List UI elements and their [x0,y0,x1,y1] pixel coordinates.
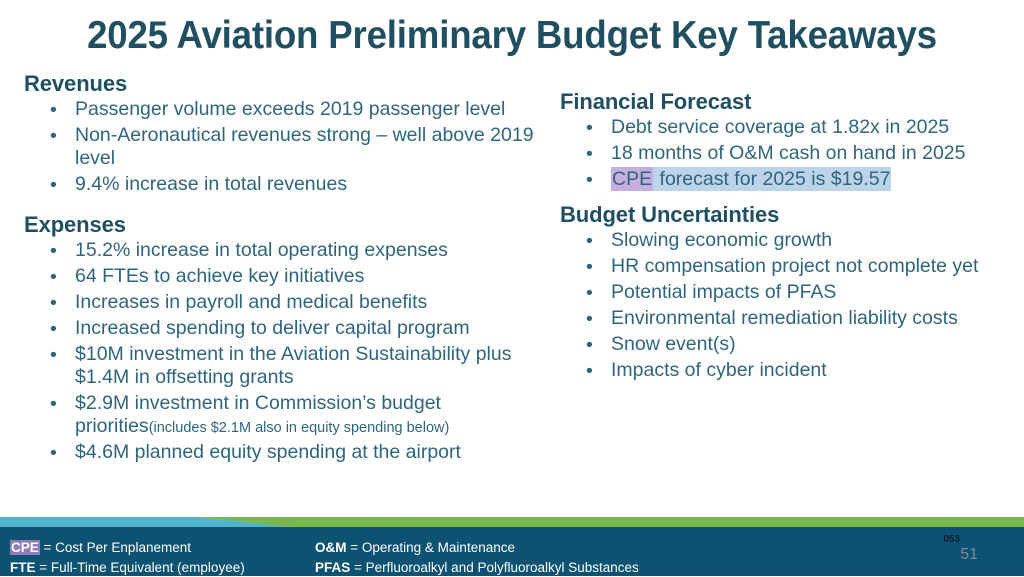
legend-definition-pfas: = Perfluoroalkyl and Polyfluoroalkyl Sub… [350,560,639,575]
list-item-text: Increased spending to deliver capital pr… [75,317,470,339]
list-item-text: Increases in payroll and medical benefit… [75,291,427,313]
section-heading-revenues: Revenues [24,72,536,95]
footer-legend-left: CPE = Cost Per Enplanement FTE = Full-Ti… [10,538,245,577]
list-item-text: $4.6M planned equity spending at the air… [75,441,461,463]
expenses-bullet-list: • 15.2% increase in total operating expe… [24,239,536,464]
list-item: • 18 months of O&M cash on hand in 2025 [560,142,1020,165]
list-item-text: 64 FTEs to achieve key initiatives [75,265,364,287]
bullet-dot-icon: • [586,143,593,166]
list-item-text: Non-Aeronautical revenues strong – well … [75,124,534,169]
list-item: • Impacts of cyber incident [560,359,1020,382]
list-item: • Slowing economic growth [560,229,1020,252]
list-item: • 15.2% increase in total operating expe… [24,239,536,262]
bullet-dot-icon: • [586,117,593,140]
bullet-dot-icon: • [50,99,57,122]
budget-uncertainties-bullet-list: • Slowing economic growth • HR compensat… [560,229,1020,382]
list-item: • Potential impacts of PFAS [560,281,1020,304]
section-heading-budget-uncertainties: Budget Uncertainties [560,203,1020,226]
list-item: • $10M investment in the Aviation Sustai… [24,343,536,389]
left-column: Revenues • Passenger volume exceeds 2019… [24,72,536,467]
list-item: • $2.9M investment in Commission’s budge… [24,392,536,438]
list-item-text: 9.4% increase in total revenues [75,173,347,195]
list-item: • 9.4% increase in total revenues [24,173,536,196]
bullet-dot-icon: • [586,360,593,383]
right-column: Financial Forecast • Debt service covera… [560,90,1020,385]
legend-row-cpe: CPE = Cost Per Enplanement [10,538,245,558]
list-item: • Debt service coverage at 1.82x in 2025 [560,116,1020,139]
legend-abbr-cpe: CPE [10,540,40,555]
bullet-dot-icon: • [50,240,57,263]
list-item-text: HR compensation project not complete yet [611,255,978,277]
page-number: 51 [960,546,978,564]
legend-abbr-fte: FTE [10,560,36,575]
list-item: • Passenger volume exceeds 2019 passenge… [24,98,536,121]
list-item: • Increased spending to deliver capital … [24,317,536,340]
section-heading-financial-forecast: Financial Forecast [560,90,1020,113]
bullet-dot-icon: • [586,282,593,305]
legend-row-pfas: PFAS = Perfluoroalkyl and Polyfluoroalky… [315,558,639,577]
page-code: 053 [943,534,960,545]
bullet-dot-icon: • [586,169,593,192]
bullet-dot-icon: • [50,344,57,367]
legend-row-fte: FTE = Full-Time Equivalent (employee) [10,558,245,577]
list-item-text: 18 months of O&M cash on hand in 2025 [611,142,965,164]
list-item-text: 15.2% increase in total operating expens… [75,239,448,261]
list-item-text: Debt service coverage at 1.82x in 2025 [611,116,949,138]
list-item: • Increases in payroll and medical benef… [24,291,536,314]
list-item: • $4.6M planned equity spending at the a… [24,441,536,464]
list-item-text: Impacts of cyber incident [611,359,827,381]
list-item-highlighted: •CPE forecast for 2025 is $19.57 [560,168,1020,191]
bullet-dot-icon: • [50,125,57,148]
legend-abbr-pfas: PFAS [315,560,350,575]
list-item: • Environmental remediation liability co… [560,307,1020,330]
bullet-dot-icon: • [586,230,593,253]
list-item-text: Snow event(s) [611,333,736,355]
list-item-note: (includes $2.1M also in equity spending … [149,420,450,436]
list-item: • Snow event(s) [560,333,1020,356]
list-item: • HR compensation project not complete y… [560,255,1020,278]
bullet-dot-icon: • [586,308,593,331]
legend-row-om: O&M = Operating & Maintenance [315,538,639,558]
list-item-text: $10M investment in the Aviation Sustaina… [75,343,511,388]
section-heading-expenses: Expenses [24,213,536,236]
financial-forecast-bullet-list: • Debt service coverage at 1.82x in 2025… [560,116,1020,191]
list-item-text: Potential impacts of PFAS [611,281,836,303]
bullet-dot-icon: • [586,256,593,279]
bullet-dot-icon: • [50,442,57,465]
list-item-text: Slowing economic growth [611,229,832,251]
legend-abbr-om: O&M [315,540,347,555]
footer-legend-right: O&M = Operating & Maintenance PFAS = Per… [315,538,639,577]
list-item-text: Environmental remediation liability cost… [611,307,958,329]
legend-definition-om: = Operating & Maintenance [347,540,515,555]
page-title: 2025 Aviation Preliminary Budget Key Tak… [31,14,994,58]
bullet-dot-icon: • [50,266,57,289]
highlight-cpe-forecast-text: forecast for 2025 is $19.57 [653,167,891,191]
revenues-bullet-list: • Passenger volume exceeds 2019 passenge… [24,98,536,196]
highlight-cpe-abbreviation: CPE [611,167,653,191]
bullet-dot-icon: • [50,318,57,341]
legend-definition-cpe: = Cost Per Enplanement [40,540,191,555]
bullet-dot-icon: • [50,292,57,315]
legend-definition-fte: = Full-Time Equivalent (employee) [36,560,245,575]
bullet-dot-icon: • [50,393,57,416]
list-item: • Non-Aeronautical revenues strong – wel… [24,124,536,170]
list-item: • 64 FTEs to achieve key initiatives [24,265,536,288]
bullet-dot-icon: • [50,174,57,197]
slide-footer: CPE = Cost Per Enplanement FTE = Full-Ti… [0,505,1024,576]
list-item-text: Passenger volume exceeds 2019 passenger … [75,98,505,120]
bullet-dot-icon: • [586,334,593,357]
